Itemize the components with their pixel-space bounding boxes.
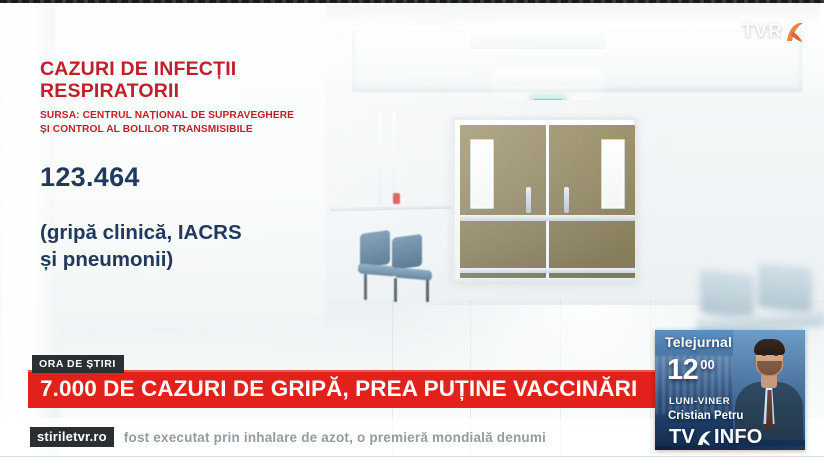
presenter-photo bbox=[733, 330, 805, 440]
broadcast-screen: TVR CAZURI DE INFECȚII RESPIRATORII SURS… bbox=[0, 0, 824, 469]
top-edge-strip bbox=[0, 0, 824, 3]
ticker-text: fost executat prin inhalare de azot, o p… bbox=[124, 430, 546, 445]
telejurnal-promo-panel: Telejurnal 12 00 LUNI-VINER Cristian Pet… bbox=[655, 330, 805, 450]
watermark-text: TVR bbox=[742, 21, 783, 43]
infographic-detail-line1: (gripă clinică, IACRS bbox=[40, 220, 340, 247]
headline-text: 7.000 DE CAZURI DE GRIPĂ, PREA PUȚINE VA… bbox=[28, 376, 637, 402]
tvr-watermark: TVR bbox=[742, 20, 806, 44]
infographic-panel: CAZURI DE INFECȚII RESPIRATORII SURSA: C… bbox=[40, 58, 340, 274]
headline-bar: 7.000 DE CAZURI DE GRIPĂ, PREA PUȚINE VA… bbox=[28, 370, 656, 408]
program-tag: ORA DE ȘTIRI bbox=[32, 355, 124, 373]
promo-time: 12 00 bbox=[667, 356, 715, 385]
infographic-detail: (gripă clinică, IACRS și pneumonii) bbox=[40, 220, 340, 273]
site-logo: stiriletvr.ro bbox=[30, 427, 114, 447]
infographic-detail-line2: și pneumonii) bbox=[40, 247, 340, 274]
promo-time-minutes: 00 bbox=[700, 358, 714, 371]
infographic-title-line1: CAZURI DE INFECȚII bbox=[40, 58, 340, 80]
infographic-source-line1: SURSA: CENTRUL NAȚIONAL DE SUPRAVEGHERE bbox=[40, 109, 340, 122]
infographic-title-line2: RESPIRATORII bbox=[40, 80, 340, 102]
promo-program-name: Telejurnal bbox=[665, 334, 732, 350]
promo-presenter-name: Cristian Petru bbox=[668, 410, 743, 422]
infographic-source-line2: ȘI CONTROL AL BOLILOR TRANSMISIBILE bbox=[40, 123, 340, 136]
tvr-r-logo-icon bbox=[784, 20, 806, 44]
infographic-title: CAZURI DE INFECȚII RESPIRATORII bbox=[40, 58, 340, 102]
promo-days: LUNI-VINER bbox=[669, 396, 730, 407]
infographic-source: SURSA: CENTRUL NAȚIONAL DE SUPRAVEGHERE … bbox=[40, 109, 340, 136]
infographic-number: 123.464 bbox=[40, 162, 340, 193]
promo-time-hour: 12 bbox=[667, 356, 698, 385]
bottom-strip bbox=[0, 456, 824, 469]
tvr-r-logo-icon bbox=[696, 429, 713, 447]
